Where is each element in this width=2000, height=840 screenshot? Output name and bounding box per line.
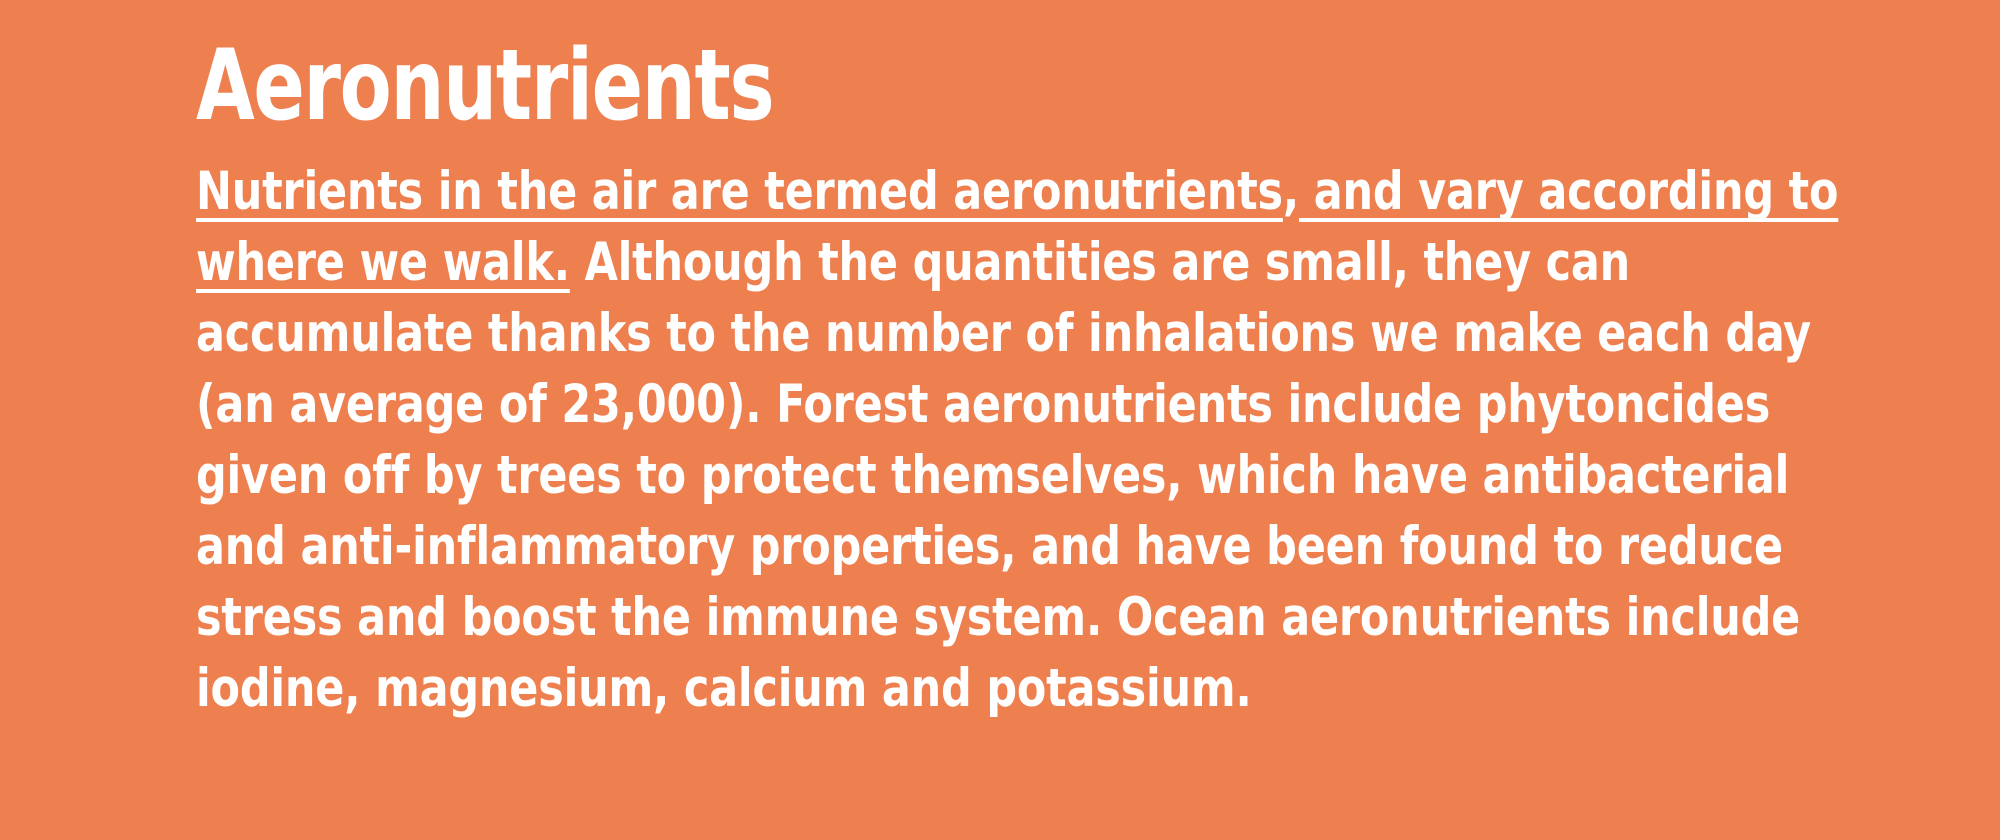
body-line: (an average of 23,000). Forest aeronutri…: [196, 369, 1726, 440]
body-text-run: given off by trees to protect themselves…: [196, 445, 1789, 506]
underlined-lead-text: Nutrients in the air are termed aeronutr…: [196, 161, 1283, 222]
page-title: Aeronutrients: [196, 34, 1658, 138]
body-line: accumulate thanks to the number of inhal…: [196, 298, 1726, 369]
body-line: stress and boost the immune system. Ocea…: [196, 582, 1726, 653]
body-text-run: Although the quantities are small, they …: [570, 232, 1630, 293]
body-line: where we walk. Although the quantities a…: [196, 227, 1726, 298]
body-text-run: and anti-inflammatory properties, and ha…: [196, 516, 1783, 577]
underlined-lead-text: where we walk.: [196, 232, 570, 293]
card-content: Aeronutrients Nutrients in the air are t…: [196, 34, 1896, 724]
aeronutrients-info-card: Aeronutrients Nutrients in the air are t…: [0, 0, 2000, 840]
body-text-run: iodine, magnesium, calcium and potassium…: [196, 658, 1252, 719]
body-text-run: (an average of 23,000). Forest aeronutri…: [196, 374, 1770, 435]
body-line: iodine, magnesium, calcium and potassium…: [196, 653, 1726, 724]
body-line: and anti-inflammatory properties, and ha…: [196, 511, 1726, 582]
article-body: Nutrients in the air are termed aeronutr…: [196, 156, 1896, 724]
body-line: Nutrients in the air are termed aeronutr…: [196, 156, 1726, 227]
body-text-run: accumulate thanks to the number of inhal…: [196, 303, 1811, 364]
body-text-run: ,: [1283, 161, 1299, 222]
body-text-run: stress and boost the immune system. Ocea…: [196, 587, 1800, 648]
body-line: given off by trees to protect themselves…: [196, 440, 1726, 511]
underlined-lead-text: and vary according to: [1299, 161, 1838, 222]
